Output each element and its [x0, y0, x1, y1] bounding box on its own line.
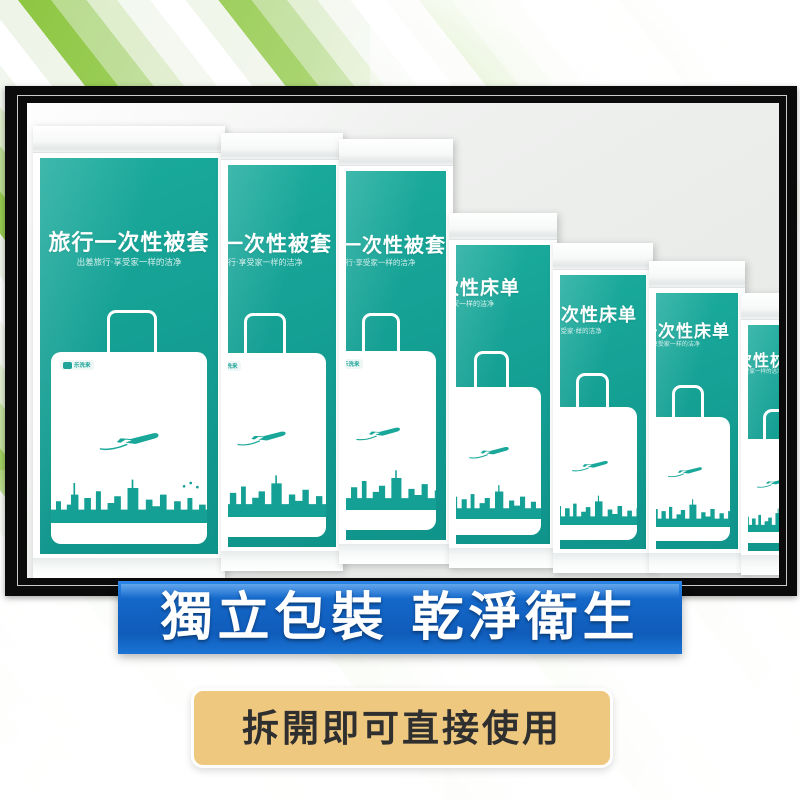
- product-package[interactable]: 次性枕套 受家一样的洁净: [741, 293, 779, 575]
- package-bottom-seal: [339, 544, 453, 564]
- product-title: 行一次性被套: [346, 229, 446, 258]
- package-top-seal: [339, 139, 453, 166]
- product-package[interactable]: 次性床单 家一样的洁净: [449, 213, 557, 568]
- product-package[interactable]: 行一次性被套 旅行·享受家一样的洁净: [221, 133, 343, 571]
- city-skyline-icon: [51, 473, 207, 523]
- product-subtitle: 家一样的洁净: [456, 299, 550, 309]
- suitcase-handle-icon: [672, 385, 703, 420]
- suitcase-illustration: [748, 409, 779, 543]
- city-skyline-icon: [346, 464, 436, 511]
- package-top-seal: [221, 133, 343, 160]
- suitcase-body: 乐洗来: [346, 351, 436, 530]
- airplane-icon: [468, 437, 518, 467]
- product-subtitle: ·享受家一样的洁净: [656, 339, 738, 348]
- primary-banner: 獨立包裝 乾淨衛生: [118, 581, 682, 654]
- airplane-icon: [571, 452, 617, 479]
- package-front-face: 一次性床单 享受家·样的洁净: [560, 275, 646, 549]
- suitcase-base-strip: [456, 517, 541, 535]
- suitcase-body: [456, 387, 541, 535]
- product-subtitle: 旅行·享受家一样的洁净: [228, 257, 336, 268]
- airplane-icon: [98, 421, 173, 459]
- suitcase-illustration: 乐洗来: [346, 313, 436, 530]
- product-lineup: 旅行一次性被套 出差旅行·享受家一样的洁净: [27, 103, 779, 578]
- airplane-icon: [236, 419, 297, 456]
- package-bottom-seal: [221, 551, 343, 571]
- camera-icon: [63, 362, 72, 369]
- product-title: 次性床单: [456, 273, 550, 300]
- city-skyline-icon: [560, 491, 637, 526]
- city-skyline-icon: [656, 495, 730, 527]
- suitcase-handle-icon: [107, 310, 157, 355]
- package-front-face: 次性枕套 受家一样的洁净: [748, 325, 779, 551]
- suitcase-base-strip: [748, 530, 779, 543]
- suitcase-handle-icon: [362, 313, 400, 354]
- package-bottom-seal: [449, 548, 557, 568]
- package-front-face: 旅行一次性被套 出差旅行·享受家一样的洁净: [40, 158, 218, 554]
- suitcase-body: [748, 439, 779, 543]
- primary-banner-text: 獨立包裝 乾淨衛生: [160, 592, 639, 644]
- suitcase-handle-icon: [763, 409, 779, 442]
- suitcase-illustration: [456, 351, 541, 535]
- product-subtitle: 受家一样的洁净: [748, 367, 779, 375]
- suitcase-illustration: 乐洗来: [51, 310, 207, 544]
- suitcase-base-strip: [656, 525, 730, 541]
- package-bottom-seal: [649, 553, 745, 573]
- product-package[interactable]: 一次性床单 ·享受家一样的洁净: [649, 261, 745, 573]
- product-subtitle: 旅行·享受家一样的洁净: [346, 257, 446, 268]
- suitcase-body: [560, 407, 637, 540]
- package-top-seal: [449, 213, 557, 240]
- suitcase-body: 乐洗来: [228, 353, 326, 537]
- product-package[interactable]: 行一次性被套 旅行·享受家一样的洁净: [339, 139, 453, 564]
- suitcase-base-strip: [51, 521, 207, 544]
- brand-name: 乐洗来: [346, 360, 360, 368]
- suitcase-illustration: 乐洗来: [228, 313, 326, 537]
- city-skyline-icon: [748, 505, 779, 532]
- airplane-icon: [756, 472, 779, 493]
- suitcase-illustration: [656, 385, 730, 541]
- package-front-face: 次性床单 家一样的洁净: [456, 245, 550, 544]
- secondary-banner: 拆開即可直接使用: [191, 688, 613, 768]
- package-bottom-seal: [741, 555, 779, 575]
- suitcase-base-strip: [346, 508, 436, 530]
- airplane-icon: [667, 459, 710, 484]
- package-top-seal: [33, 126, 225, 153]
- suitcase-body: [656, 417, 730, 541]
- brand-name: 乐洗来: [74, 361, 91, 369]
- suitcase-base-strip: [228, 515, 326, 537]
- product-package[interactable]: 旅行一次性被套 出差旅行·享受家一样的洁净: [33, 126, 225, 578]
- suitcase-handle-icon: [576, 373, 609, 410]
- brand-name: 乐洗来: [228, 362, 238, 370]
- photo-frame: 旅行一次性被套 出差旅行·享受家一样的洁净: [5, 86, 797, 596]
- package-top-seal: [553, 243, 653, 270]
- product-title: 旅行一次性被套: [40, 225, 218, 257]
- product-subtitle: 享受家·样的洁净: [560, 325, 646, 335]
- package-bottom-seal: [33, 558, 225, 578]
- brand-logo-badge: 乐洗来: [346, 359, 363, 369]
- secondary-banner-text: 拆開即可直接使用: [242, 710, 562, 747]
- product-title: 一次性床单: [560, 301, 646, 327]
- city-skyline-icon: [228, 469, 326, 517]
- package-front-face: 一次性床单 ·享受家一样的洁净: [656, 293, 738, 549]
- package-front-face: 行一次性被套 旅行·享受家一样的洁净: [228, 165, 336, 547]
- airplane-icon: [355, 415, 411, 451]
- suitcase-handle-icon: [244, 313, 286, 356]
- suitcase-base-strip: [560, 523, 637, 540]
- city-skyline-icon: [456, 480, 541, 518]
- package-top-seal: [741, 293, 779, 320]
- suitcase-body: 乐洗来: [51, 352, 207, 544]
- brand-logo-badge: 乐洗来: [228, 361, 241, 371]
- product-title: 行一次性被套: [228, 228, 336, 258]
- suitcase-illustration: [560, 373, 637, 540]
- package-front-face: 行一次性被套 旅行·享受家一样的洁净: [346, 171, 446, 540]
- product-package[interactable]: 一次性床单 享受家·样的洁净: [553, 243, 653, 573]
- product-subtitle: 出差旅行·享受家一样的洁净: [40, 256, 218, 268]
- brand-logo-badge: 乐洗来: [60, 360, 94, 370]
- package-top-seal: [649, 261, 745, 288]
- package-bottom-seal: [553, 553, 653, 573]
- suitcase-handle-icon: [474, 351, 509, 390]
- product-promo-image: 旅行一次性被套 出差旅行·享受家一样的洁净: [0, 0, 800, 800]
